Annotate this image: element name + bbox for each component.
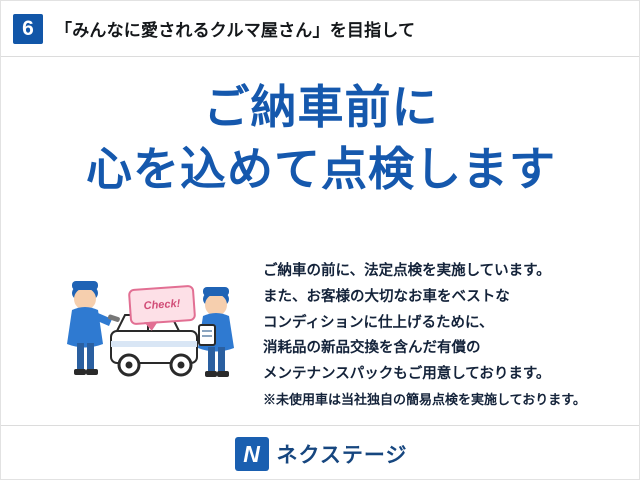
description-note: ※未使用車は当社独自の簡易点検を実施しております。 (263, 388, 633, 411)
description-line: 消耗品の新品交換を含んだ有償の (263, 336, 633, 362)
mechanic-right-icon (198, 287, 234, 377)
description-line: メンテナンスパックもご用意しております。 (263, 362, 633, 388)
inspection-illustration: Check! (53, 269, 263, 399)
description-line: また、お客様の大切なお車をベストな (263, 285, 633, 311)
brand-logo-icon: N (235, 437, 269, 471)
brand-name: ネクステージ (277, 439, 408, 469)
header-title: 「みんなに愛されるクルマ屋さん」を目指して (55, 16, 415, 41)
footer: N ネクステージ (1, 425, 640, 480)
description-block: ご納車の前に、法定点検を実施しています。 また、お客様の大切なお車をベストな コ… (263, 259, 633, 411)
step-number-badge: 6 (13, 14, 43, 44)
promo-page: 6 「みんなに愛されるクルマ屋さん」を目指して ご納車前に 心を込めて点検します (0, 0, 640, 480)
headline-line-1: ご納車前に (1, 79, 640, 135)
check-bubble-label: Check! (143, 298, 180, 313)
description-line: ご納車の前に、法定点検を実施しています。 (263, 259, 633, 285)
page-title: ご納車前に 心を込めて点検します (1, 79, 640, 197)
check-speech-bubble: Check! (128, 285, 196, 326)
header: 6 「みんなに愛されるクルマ屋さん」を目指して (1, 1, 640, 57)
description-line: コンディションに仕上げるために、 (263, 311, 633, 337)
brand-logo-letter: N (243, 443, 260, 466)
headline-line-2: 心を込めて点検します (1, 141, 640, 197)
